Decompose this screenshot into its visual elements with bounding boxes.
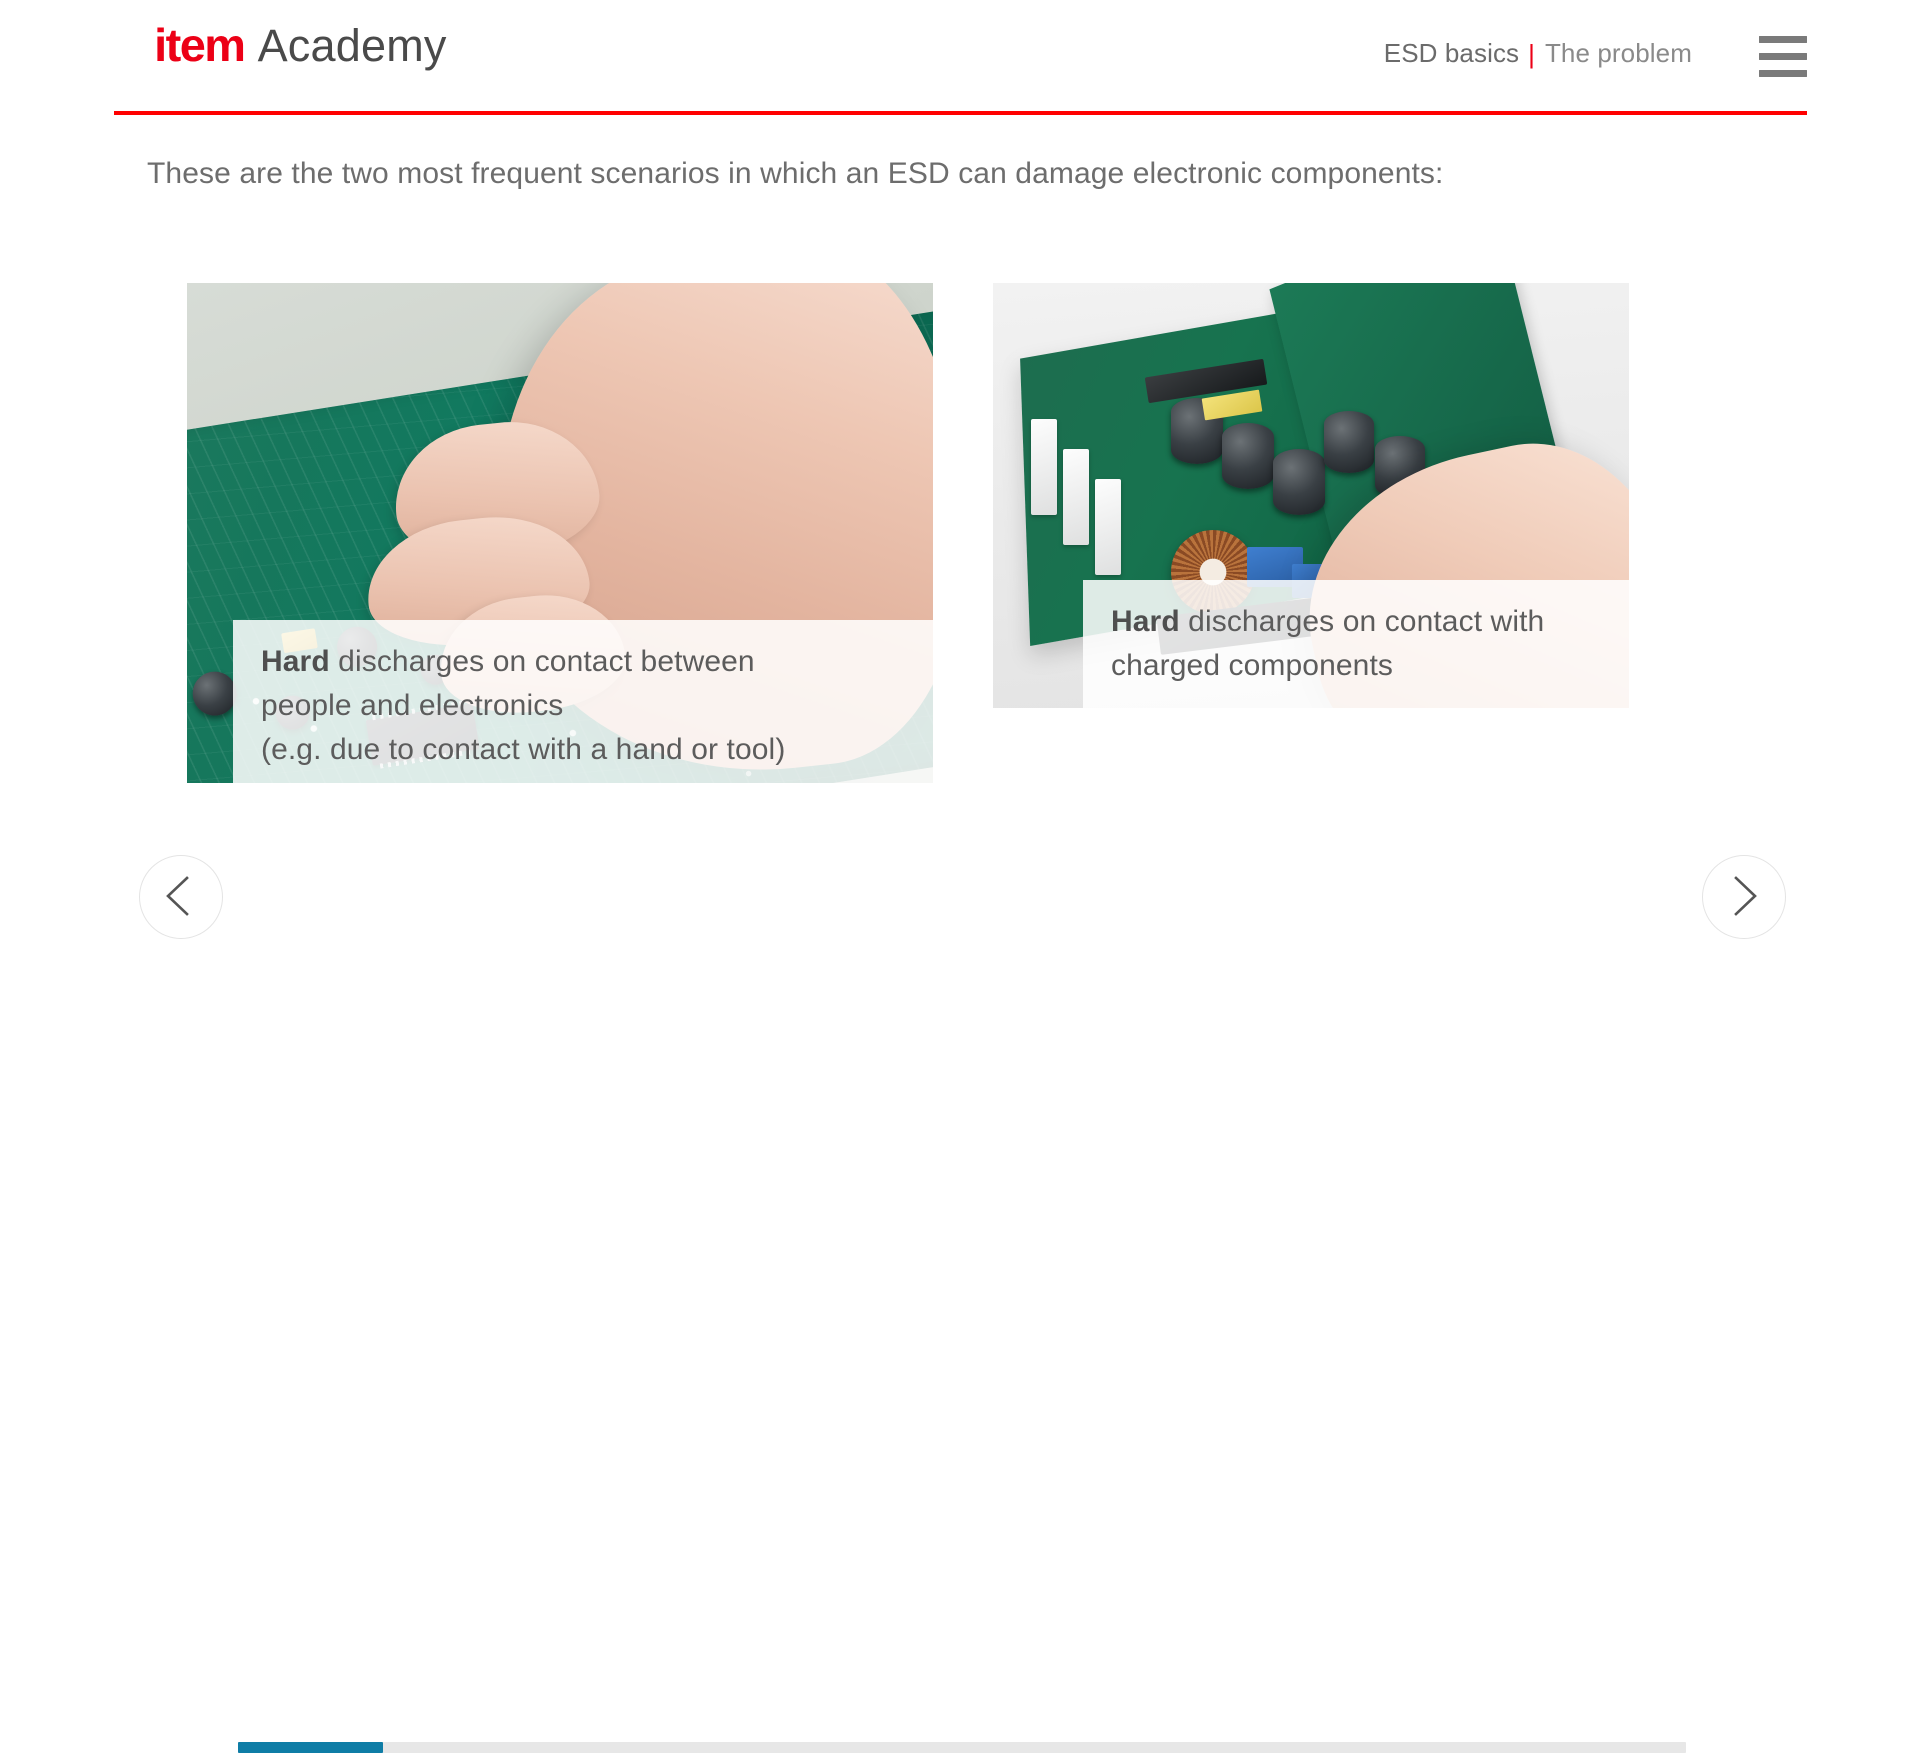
- site-header: item Academy ESD basics | The problem: [0, 0, 1920, 118]
- chevron-left-icon: [140, 856, 220, 936]
- caption-line-text: discharges on contact with: [1180, 605, 1545, 638]
- previous-slide-button[interactable]: [139, 855, 223, 939]
- capacitor-icon: [1222, 423, 1274, 489]
- capacitor-icon: [1324, 411, 1374, 473]
- logo-academy-wordmark: Academy: [258, 23, 447, 68]
- logo-item-wordmark: item: [154, 22, 244, 68]
- caption-line-text: discharges on contact between: [330, 645, 755, 678]
- caption-line: people and electronics: [261, 684, 905, 728]
- caption-line: Hard discharges on contact with: [1111, 600, 1601, 644]
- caption-emphasis: Hard: [261, 645, 330, 678]
- scenario-image-hand-on-pcb: Hard discharges on contact between peopl…: [187, 283, 933, 783]
- caption-line: (e.g. due to contact with a hand or tool…: [261, 728, 905, 772]
- header-red-rule: [114, 111, 1807, 115]
- hamburger-bar-1: [1759, 36, 1807, 43]
- slide-progress-fill: [238, 1742, 383, 1753]
- breadcrumb-parent-esd-basics[interactable]: ESD basics: [1384, 38, 1519, 69]
- white-connector-icon: [1063, 449, 1089, 545]
- hamburger-menu-icon[interactable]: [1759, 36, 1807, 78]
- breadcrumb-separator: |: [1528, 41, 1535, 67]
- white-connector-icon: [1095, 479, 1121, 575]
- breadcrumb: ESD basics | The problem: [1384, 38, 1692, 69]
- slide-progress-bar[interactable]: [238, 1742, 1686, 1753]
- scenario-cards: Hard discharges on contact between peopl…: [0, 283, 1920, 803]
- chevron-right-icon: [1703, 856, 1783, 936]
- scenario-caption-1: Hard discharges on contact between peopl…: [233, 620, 933, 783]
- scenario-card-1[interactable]: Hard discharges on contact between peopl…: [187, 283, 933, 783]
- breadcrumb-current-the-problem[interactable]: The problem: [1545, 38, 1692, 69]
- brand-logo[interactable]: item Academy: [155, 22, 447, 68]
- next-slide-button[interactable]: [1702, 855, 1786, 939]
- intro-text: These are the two most frequent scenario…: [147, 157, 1443, 191]
- hamburger-bar-3: [1759, 70, 1807, 77]
- caption-line: charged components: [1111, 644, 1601, 688]
- white-connector-icon: [1031, 419, 1057, 515]
- slide-navigation: [0, 855, 1920, 955]
- caption-line: Hard discharges on contact between: [261, 640, 905, 684]
- scenario-caption-2: Hard discharges on contact with charged …: [1083, 580, 1629, 712]
- scenario-card-2[interactable]: Hard discharges on contact with charged …: [993, 283, 1629, 708]
- capacitor-icon: [1273, 449, 1325, 515]
- caption-emphasis: Hard: [1111, 605, 1180, 638]
- hamburger-bar-2: [1759, 53, 1807, 60]
